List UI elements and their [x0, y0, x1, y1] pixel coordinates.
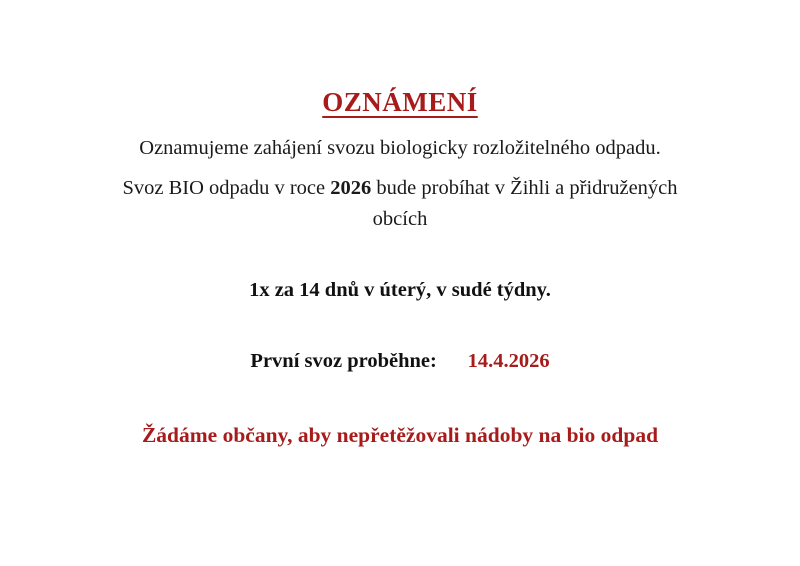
intro-gap-spacer	[72, 163, 728, 173]
first-collection-top-spacer	[72, 304, 728, 348]
request-top-spacer	[72, 374, 728, 422]
collection-year-line-suffix: bude probíhat v Žihli a přidružených obc…	[371, 177, 677, 230]
overload-request-line: Žádáme občany, aby nepřetěžovali nádoby …	[72, 422, 728, 450]
announcement-intro-line: Oznamujeme zahájení svozu biologicky roz…	[72, 134, 728, 164]
first-collection-line: První svoz proběhne: 14.4.2026	[72, 348, 728, 375]
collection-year-value: 2026	[330, 177, 371, 199]
first-collection-date: 14.4.2026	[468, 350, 550, 372]
collection-year-line: Svoz BIO odpadu v roce 2026 bude probíha…	[72, 173, 728, 235]
collection-year-line-prefix: Svoz BIO odpadu v roce	[122, 177, 330, 199]
first-collection-gap	[437, 350, 468, 372]
page-title: OZNÁMENÍ	[72, 88, 728, 118]
notice-page: OZNÁMENÍ Oznamujeme zahájení svozu biolo…	[0, 0, 800, 566]
first-collection-label: První svoz proběhne:	[250, 350, 436, 372]
frequency-top-spacer	[72, 235, 728, 277]
notice-body: OZNÁMENÍ Oznamujeme zahájení svozu biolo…	[0, 0, 800, 450]
title-bottom-spacer	[72, 118, 728, 134]
top-spacer	[72, 0, 728, 88]
collection-frequency-line: 1x za 14 dnů v úterý, v sudé týdny.	[72, 277, 728, 304]
